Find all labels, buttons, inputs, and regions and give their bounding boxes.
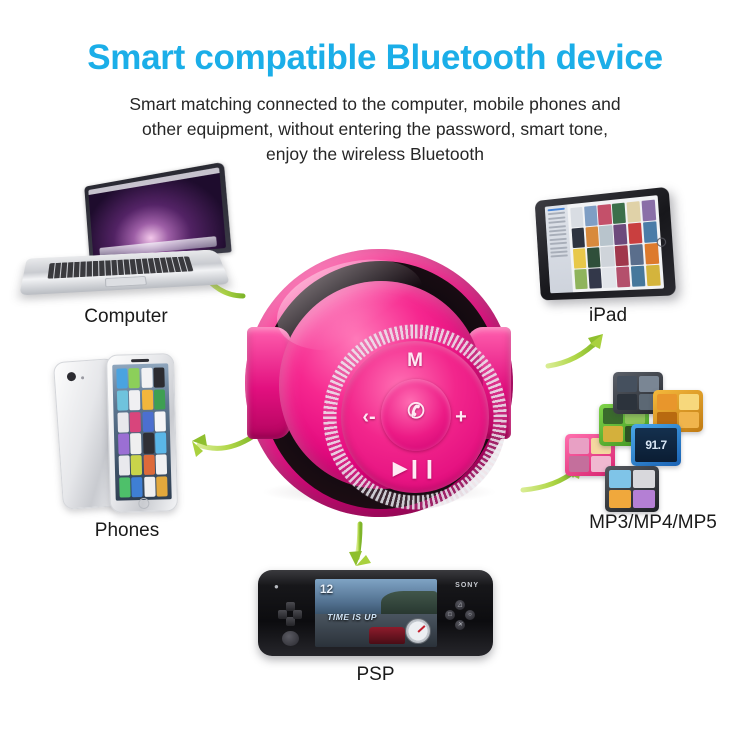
subtitle-line-2: other equipment, without entering the pa…: [0, 117, 750, 142]
subtitle-line-3: enjoy the wireless Bluetooth: [0, 142, 750, 167]
psp-game-banner: TIME IS UP: [327, 612, 377, 622]
ipad-body: [535, 187, 677, 301]
mp3-player-front: [605, 466, 659, 512]
device-label-computer: Computer: [28, 306, 224, 328]
arrow-to-ipad: [548, 334, 603, 366]
playstation-logo-icon: ●: [274, 582, 279, 591]
laptop-keyboard: [47, 257, 193, 279]
laptop-trackpad: [105, 276, 147, 287]
laptop-base: [19, 249, 230, 295]
device-phones[interactable]: Phones: [52, 352, 202, 552]
product-infographic: Smart compatible Bluetooth device Smart …: [0, 0, 750, 750]
device-psp[interactable]: ● SONY △○✕□ 12 TIME IS UP PSP: [258, 566, 493, 696]
bluetooth-speaker[interactable]: M ‹- + ▶❙❙ ✆: [243, 247, 515, 519]
psp-game-speedometer: [405, 618, 431, 644]
device-label-ipad: iPad: [528, 305, 688, 327]
mp3-screen-orange: [657, 394, 699, 428]
device-label-psp: PSP: [258, 664, 493, 686]
phone-home-screen: [112, 363, 172, 500]
device-mp3-players[interactable]: 91.7 MP3/MP4/MP5: [565, 372, 741, 537]
speaker-inner-disc: M ‹- + ▶❙❙ ✆: [279, 281, 483, 489]
speaker-outer-shell: M ‹- + ▶❙❙ ✆: [245, 249, 513, 517]
mp3-fm-frequency: 91.7: [635, 428, 677, 462]
psp-analog-stick[interactable]: [282, 631, 299, 646]
laptop-wallpaper: [88, 167, 226, 259]
phone-earpiece: [131, 359, 149, 362]
arrow-to-psp: [349, 524, 371, 566]
mp3-screen-front: [609, 470, 655, 508]
sony-brand-label: SONY: [455, 582, 479, 589]
phone-icon[interactable]: ✆: [381, 401, 451, 422]
mode-button[interactable]: M: [341, 351, 489, 370]
subtitle-line-1: Smart matching connected to the computer…: [0, 92, 750, 117]
ipad-screen: [545, 195, 664, 293]
phone-home-button[interactable]: [138, 498, 149, 509]
device-ipad[interactable]: iPad: [528, 192, 688, 332]
psp-body: ● SONY △○✕□ 12 TIME IS UP: [258, 570, 493, 656]
psp-screen: 12 TIME IS UP: [315, 579, 437, 647]
laptop-screen: [84, 162, 231, 264]
psp-game-car: [369, 627, 406, 645]
psp-dpad[interactable]: [278, 602, 302, 626]
laptop-menubar: [88, 167, 219, 195]
psp-game-score: 12: [320, 582, 333, 596]
page-title: Smart compatible Bluetooth device: [0, 40, 750, 77]
ipad-album-grid: [567, 195, 664, 292]
ipad-home-button[interactable]: [656, 237, 666, 247]
speaker-control-pad[interactable]: M ‹- + ▶❙❙ ✆: [341, 341, 489, 493]
psp-action-buttons[interactable]: △○✕□: [445, 600, 475, 630]
device-label-mp3: MP3/MP4/MP5: [565, 512, 741, 534]
device-computer[interactable]: Computer: [28, 186, 224, 331]
device-label-phones: Phones: [52, 520, 202, 542]
play-pause-button[interactable]: ▶❙❙: [341, 459, 489, 477]
page-subtitle: Smart matching connected to the computer…: [0, 92, 750, 167]
phone-camera-icon: [67, 372, 77, 382]
mp3-player-blue: 91.7: [631, 424, 681, 466]
phone-front-view: [106, 353, 178, 513]
